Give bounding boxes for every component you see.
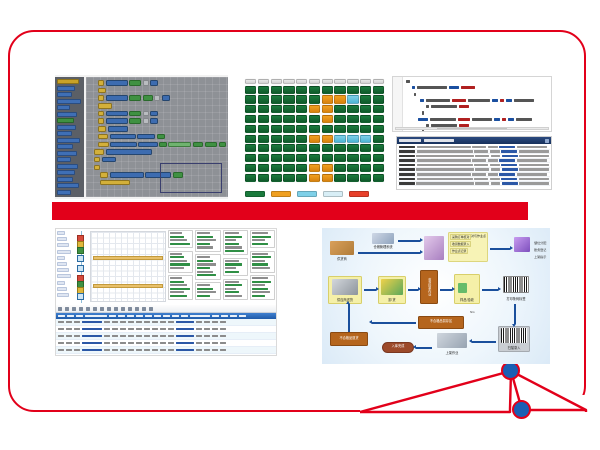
status-cell[interactable] xyxy=(334,115,345,123)
screenshot-spreadsheet[interactable] xyxy=(55,228,277,356)
code-block[interactable] xyxy=(205,142,218,148)
detail-card[interactable] xyxy=(250,251,275,273)
detail-card[interactable] xyxy=(223,230,248,255)
status-cell[interactable] xyxy=(360,164,371,172)
gantt-bar[interactable] xyxy=(93,256,163,260)
code-scrollbar-thumb[interactable] xyxy=(437,128,507,130)
code-block[interactable] xyxy=(98,88,106,94)
status-cell[interactable] xyxy=(258,164,269,172)
status-cell[interactable] xyxy=(373,144,384,152)
code-block[interactable] xyxy=(98,80,104,86)
schedule-side-chip[interactable] xyxy=(57,237,67,241)
status-cell[interactable] xyxy=(245,174,256,182)
status-cell[interactable] xyxy=(322,79,333,84)
status-cell[interactable] xyxy=(360,135,371,143)
status-cell[interactable] xyxy=(347,154,358,162)
status-cell[interactable] xyxy=(309,135,320,143)
block-statement-row[interactable] xyxy=(98,95,226,101)
code-block[interactable] xyxy=(108,126,128,132)
toolbar-icon[interactable] xyxy=(93,307,97,311)
status-cell[interactable] xyxy=(258,154,269,162)
schedule-side-chip[interactable] xyxy=(57,268,69,272)
status-cell[interactable] xyxy=(334,154,345,162)
table-body[interactable] xyxy=(56,319,276,356)
table-column-header[interactable] xyxy=(58,315,65,317)
status-cell[interactable] xyxy=(322,164,333,172)
schedule-side-chip[interactable] xyxy=(57,274,71,278)
status-cell[interactable] xyxy=(283,144,294,152)
toolbar-icon[interactable] xyxy=(114,307,118,311)
status-cell[interactable] xyxy=(347,115,358,123)
toolbar-icon[interactable] xyxy=(65,307,69,311)
code-block[interactable] xyxy=(98,103,112,109)
code-block[interactable] xyxy=(143,80,149,86)
code-line[interactable] xyxy=(404,93,548,96)
table-column-header[interactable] xyxy=(85,315,107,317)
status-cell[interactable] xyxy=(322,95,333,103)
status-cell[interactable] xyxy=(373,174,384,182)
table-column-header[interactable] xyxy=(76,315,83,317)
table-column-header[interactable] xyxy=(154,315,161,317)
status-cell[interactable] xyxy=(334,125,345,133)
detail-card[interactable] xyxy=(168,275,193,300)
node-receive-order[interactable]: 收货接单作业 xyxy=(420,270,438,304)
code-block[interactable] xyxy=(157,134,165,140)
status-cell[interactable] xyxy=(258,115,269,123)
status-cell[interactable] xyxy=(296,174,307,182)
status-cell[interactable] xyxy=(334,174,345,182)
status-cell[interactable] xyxy=(296,79,307,84)
status-cell[interactable] xyxy=(271,144,282,152)
palette-block[interactable] xyxy=(57,125,76,130)
status-cell[interactable] xyxy=(309,174,320,182)
status-cell[interactable] xyxy=(309,154,320,162)
table-column-header[interactable] xyxy=(163,315,170,317)
status-cell[interactable] xyxy=(334,135,345,143)
code-block[interactable] xyxy=(100,172,108,178)
status-cell[interactable] xyxy=(245,79,256,84)
code-block[interactable] xyxy=(150,118,158,124)
status-cell[interactable] xyxy=(347,135,358,143)
code-block[interactable] xyxy=(98,111,104,117)
schedule-side-chip[interactable] xyxy=(57,281,65,285)
status-cell[interactable] xyxy=(296,154,307,162)
status-cell[interactable] xyxy=(283,154,294,162)
code-block[interactable] xyxy=(150,80,158,86)
palette-block[interactable] xyxy=(57,105,71,110)
code-block[interactable] xyxy=(110,134,136,140)
code-block[interactable] xyxy=(143,95,153,101)
blocks-canvas[interactable] xyxy=(86,77,228,197)
status-cell[interactable] xyxy=(334,79,345,84)
code-block[interactable] xyxy=(106,95,128,101)
status-cell[interactable] xyxy=(334,95,345,103)
status-cell[interactable] xyxy=(322,86,333,94)
detail-card[interactable] xyxy=(168,251,193,273)
node-inspect[interactable]: 样品 验收 xyxy=(454,274,480,304)
schedule-node-lane[interactable] xyxy=(74,231,88,303)
status-cell[interactable] xyxy=(360,86,371,94)
status-cell[interactable] xyxy=(296,86,307,94)
status-cell[interactable] xyxy=(309,86,320,94)
status-cell[interactable] xyxy=(373,105,384,113)
status-cell[interactable] xyxy=(271,105,282,113)
status-cell[interactable] xyxy=(245,135,256,143)
block-statement-row[interactable] xyxy=(94,149,226,155)
status-cell[interactable] xyxy=(309,95,320,103)
node-barcode-print[interactable]: 打印条码标签 xyxy=(500,274,532,302)
node-archive[interactable] xyxy=(512,236,532,260)
schedule-node[interactable] xyxy=(77,265,84,272)
code-block[interactable] xyxy=(129,118,141,124)
status-cell[interactable] xyxy=(258,79,269,84)
code-block[interactable] xyxy=(168,142,191,148)
palette-block[interactable] xyxy=(57,157,72,162)
schedule-grid[interactable] xyxy=(90,231,166,302)
status-cell[interactable] xyxy=(347,164,358,172)
status-cell[interactable] xyxy=(347,174,358,182)
schedule-node[interactable] xyxy=(77,293,84,300)
status-cell[interactable] xyxy=(309,79,320,84)
table-column-header[interactable] xyxy=(136,315,143,317)
code-block[interactable] xyxy=(129,111,141,117)
code-block[interactable] xyxy=(154,95,160,101)
table-row[interactable] xyxy=(56,319,276,326)
block-statement-row[interactable] xyxy=(98,88,226,94)
status-cell[interactable] xyxy=(322,105,333,113)
table-column-header[interactable] xyxy=(127,315,134,317)
status-cell[interactable] xyxy=(360,79,371,84)
palette-block[interactable] xyxy=(57,118,74,123)
status-cell[interactable] xyxy=(245,105,256,113)
code-block[interactable] xyxy=(143,118,149,124)
block-statement-row[interactable] xyxy=(94,157,226,163)
status-cell[interactable] xyxy=(258,105,269,113)
screenshot-status-grid[interactable] xyxy=(243,75,386,199)
status-cell[interactable] xyxy=(258,86,269,94)
toolbar-icon[interactable] xyxy=(86,307,90,311)
status-cell[interactable] xyxy=(347,144,358,152)
toolbar-icon[interactable] xyxy=(107,307,111,311)
block-statement-row[interactable] xyxy=(98,103,226,109)
table-row[interactable] xyxy=(56,347,276,354)
schedule-side-chip[interactable] xyxy=(57,243,69,247)
palette-block[interactable] xyxy=(57,138,80,143)
status-cell[interactable] xyxy=(334,105,345,113)
status-cell[interactable] xyxy=(283,174,294,182)
toolbar-icon[interactable] xyxy=(79,307,83,311)
status-cell[interactable] xyxy=(322,144,333,152)
code-block[interactable] xyxy=(129,95,141,101)
table-row[interactable] xyxy=(56,333,276,340)
code-line[interactable] xyxy=(404,99,548,102)
status-cell[interactable] xyxy=(322,154,333,162)
node-shelving[interactable]: 上架作业 xyxy=(434,332,470,356)
code-block[interactable] xyxy=(106,111,128,117)
detail-card[interactable] xyxy=(168,230,193,248)
blocks-palette[interactable] xyxy=(55,77,84,197)
status-cell[interactable] xyxy=(271,174,282,182)
schedule-node[interactable] xyxy=(77,247,84,254)
screenshot-logistics-flowchart[interactable]: 供货商 仓储管理系统 采购订单单据核对与作业点 供应商送货 卸 货 收货接单作业 xyxy=(322,228,550,364)
status-cell[interactable] xyxy=(271,164,282,172)
code-block[interactable] xyxy=(162,95,170,101)
node-warehouse-system[interactable]: 仓储管理系统 xyxy=(370,232,396,250)
code-line[interactable] xyxy=(404,105,548,108)
status-cell[interactable] xyxy=(271,154,282,162)
detail-card[interactable] xyxy=(195,230,220,252)
code-block[interactable] xyxy=(98,95,104,101)
palette-block[interactable] xyxy=(57,112,78,117)
status-cell[interactable] xyxy=(373,86,384,94)
status-cell[interactable] xyxy=(245,154,256,162)
toolbar-icon[interactable] xyxy=(58,307,62,311)
status-cell[interactable] xyxy=(360,105,371,113)
status-cell[interactable] xyxy=(296,95,307,103)
block-statement-row[interactable] xyxy=(98,111,226,117)
table-row[interactable] xyxy=(56,354,276,356)
status-cell[interactable] xyxy=(322,174,333,182)
detail-card[interactable] xyxy=(223,279,248,301)
status-cell[interactable] xyxy=(283,164,294,172)
status-cell[interactable] xyxy=(271,125,282,133)
toolbar-icon[interactable] xyxy=(121,307,125,311)
code-block[interactable] xyxy=(94,149,104,155)
code-line[interactable] xyxy=(404,130,548,132)
node-scan-in[interactable]: 扫描录入 xyxy=(498,326,530,352)
status-cell[interactable] xyxy=(360,115,371,123)
code-block[interactable] xyxy=(110,142,137,148)
palette-block[interactable] xyxy=(57,86,75,91)
status-cell[interactable] xyxy=(296,144,307,152)
palette-block[interactable] xyxy=(57,177,73,182)
code-line[interactable] xyxy=(404,111,548,114)
status-cell[interactable] xyxy=(360,174,371,182)
status-cell[interactable] xyxy=(309,115,320,123)
schedule-side-panel[interactable] xyxy=(56,231,72,303)
status-cell[interactable] xyxy=(360,125,371,133)
status-cell[interactable] xyxy=(373,164,384,172)
table-column-header[interactable] xyxy=(109,315,116,317)
palette-block[interactable] xyxy=(57,164,79,169)
palette-block[interactable] xyxy=(57,92,73,97)
status-cell[interactable] xyxy=(283,86,294,94)
toolbar-icon[interactable] xyxy=(72,307,76,311)
status-cell[interactable] xyxy=(296,125,307,133)
schedule-detail-cards[interactable] xyxy=(168,230,275,303)
detail-card[interactable] xyxy=(195,282,220,300)
status-cell[interactable] xyxy=(360,95,371,103)
status-cell[interactable] xyxy=(296,164,307,172)
status-cell[interactable] xyxy=(283,105,294,113)
code-block[interactable] xyxy=(150,111,158,117)
status-cell[interactable] xyxy=(373,79,384,84)
status-cell[interactable] xyxy=(347,95,358,103)
screenshot-code-editor[interactable] xyxy=(392,76,552,132)
code-block[interactable] xyxy=(94,157,100,163)
status-cell[interactable] xyxy=(309,164,320,172)
log-row-list[interactable] xyxy=(397,144,551,186)
palette-block[interactable] xyxy=(57,183,80,188)
status-cell[interactable] xyxy=(322,135,333,143)
code-block[interactable] xyxy=(102,157,116,163)
screenshot-log-viewer[interactable] xyxy=(396,136,552,190)
status-cell[interactable] xyxy=(334,144,345,152)
status-cell[interactable] xyxy=(296,115,307,123)
code-block[interactable] xyxy=(143,111,149,117)
code-line[interactable] xyxy=(404,118,548,121)
status-cell[interactable] xyxy=(245,115,256,123)
code-horizontal-scrollbar[interactable] xyxy=(395,127,549,131)
toolbar-icon[interactable] xyxy=(135,307,139,311)
block-statement-row[interactable] xyxy=(98,134,226,140)
table-column-header[interactable] xyxy=(221,315,228,317)
code-block[interactable] xyxy=(98,126,106,132)
detail-card[interactable] xyxy=(223,258,248,276)
code-block[interactable] xyxy=(98,142,109,148)
table-column-header[interactable] xyxy=(172,315,179,317)
schedule-side-chip[interactable] xyxy=(57,250,71,254)
table-column-header[interactable] xyxy=(239,315,246,317)
table-row[interactable] xyxy=(56,326,276,333)
status-cell[interactable] xyxy=(283,135,294,143)
code-block[interactable] xyxy=(106,149,152,155)
palette-block[interactable] xyxy=(57,170,75,175)
detail-card[interactable] xyxy=(250,275,275,300)
code-line[interactable] xyxy=(404,80,548,83)
status-cell[interactable] xyxy=(271,135,282,143)
status-cell[interactable] xyxy=(245,125,256,133)
code-block[interactable] xyxy=(159,142,166,148)
table-column-header[interactable] xyxy=(67,315,74,317)
detail-card[interactable] xyxy=(250,230,275,248)
palette-block[interactable] xyxy=(57,144,74,149)
data-table[interactable] xyxy=(56,305,276,355)
status-cell[interactable] xyxy=(309,144,320,152)
status-cell[interactable] xyxy=(360,144,371,152)
palette-block[interactable] xyxy=(57,151,77,156)
close-icon[interactable] xyxy=(545,139,549,143)
node-reject-area[interactable]: 不合格品暂存区 xyxy=(418,316,464,329)
status-cell[interactable] xyxy=(271,115,282,123)
status-cell[interactable] xyxy=(347,86,358,94)
status-cell[interactable] xyxy=(271,86,282,94)
node-supply-truck[interactable]: 供应商送货 xyxy=(328,276,362,304)
status-cell[interactable] xyxy=(347,125,358,133)
block-statement-row[interactable] xyxy=(98,118,226,124)
status-cell[interactable] xyxy=(245,86,256,94)
table-toolbar[interactable] xyxy=(56,305,276,313)
code-block[interactable] xyxy=(138,142,158,148)
code-block[interactable] xyxy=(219,142,226,148)
block-statement-row[interactable] xyxy=(98,142,226,148)
schedule-side-chip[interactable] xyxy=(57,293,69,297)
palette-block[interactable] xyxy=(57,131,72,136)
status-cell[interactable] xyxy=(373,95,384,103)
status-cell[interactable] xyxy=(347,105,358,113)
status-cell[interactable] xyxy=(283,79,294,84)
status-cell[interactable] xyxy=(271,79,282,84)
table-column-header[interactable] xyxy=(118,315,125,317)
schedule-side-chip[interactable] xyxy=(57,287,67,291)
code-block[interactable] xyxy=(193,142,204,148)
detail-card[interactable] xyxy=(195,254,220,279)
table-column-header[interactable] xyxy=(145,315,152,317)
palette-block[interactable] xyxy=(57,190,71,195)
status-cell[interactable] xyxy=(347,79,358,84)
status-cell[interactable] xyxy=(373,125,384,133)
table-column-header[interactable] xyxy=(230,315,237,317)
log-row[interactable] xyxy=(398,182,550,187)
toolbar-icon[interactable] xyxy=(100,307,104,311)
code-block[interactable] xyxy=(137,134,155,140)
status-cell[interactable] xyxy=(245,164,256,172)
status-cell[interactable] xyxy=(334,164,345,172)
table-column-header[interactable] xyxy=(212,315,219,317)
status-cell[interactable] xyxy=(322,125,333,133)
schedule-side-chip[interactable] xyxy=(57,231,65,235)
node-reject-return[interactable]: 不合格品退货 xyxy=(330,332,368,346)
status-cell[interactable] xyxy=(309,105,320,113)
code-block[interactable] xyxy=(98,134,108,140)
gantt-bar[interactable] xyxy=(93,284,163,288)
status-cell[interactable] xyxy=(283,125,294,133)
table-column-header[interactable] xyxy=(181,315,188,317)
code-block[interactable] xyxy=(110,172,144,178)
code-text-area[interactable] xyxy=(404,80,548,125)
node-unload[interactable]: 卸 货 xyxy=(378,276,406,304)
status-cell[interactable] xyxy=(245,144,256,152)
code-line[interactable] xyxy=(404,86,548,89)
schedule-side-chip[interactable] xyxy=(57,262,67,266)
node-supplier[interactable]: 供货商 xyxy=(328,240,356,262)
code-block[interactable] xyxy=(98,118,104,124)
code-block[interactable] xyxy=(94,165,100,171)
block-statement-row[interactable] xyxy=(98,80,226,86)
status-cell[interactable] xyxy=(258,95,269,103)
palette-block[interactable] xyxy=(57,79,80,84)
status-cell[interactable] xyxy=(245,95,256,103)
node-doc-check[interactable] xyxy=(422,234,446,264)
status-cell[interactable] xyxy=(373,115,384,123)
status-cell[interactable] xyxy=(322,115,333,123)
schedule-node[interactable] xyxy=(77,255,84,262)
status-cell[interactable] xyxy=(309,125,320,133)
toolbar-icon[interactable] xyxy=(142,307,146,311)
code-block[interactable] xyxy=(129,80,141,86)
toolbar-icon[interactable] xyxy=(149,307,153,311)
screenshot-blocks-editor[interactable] xyxy=(55,75,228,199)
code-block[interactable] xyxy=(106,80,128,86)
palette-block[interactable] xyxy=(57,99,82,104)
toolbar-icon[interactable] xyxy=(128,307,132,311)
schedule-side-chip[interactable] xyxy=(57,256,65,260)
table-row[interactable] xyxy=(56,340,276,347)
status-cell[interactable] xyxy=(258,135,269,143)
status-cell[interactable] xyxy=(283,95,294,103)
status-cell[interactable] xyxy=(258,144,269,152)
status-cell[interactable] xyxy=(258,125,269,133)
status-cell[interactable] xyxy=(334,86,345,94)
status-cell[interactable] xyxy=(296,135,307,143)
table-column-header[interactable] xyxy=(190,315,210,317)
status-cell[interactable] xyxy=(283,115,294,123)
status-cell[interactable] xyxy=(373,154,384,162)
block-statement-row[interactable] xyxy=(98,126,226,132)
status-cell[interactable] xyxy=(258,174,269,182)
code-block[interactable] xyxy=(100,180,130,186)
status-cell[interactable] xyxy=(373,135,384,143)
